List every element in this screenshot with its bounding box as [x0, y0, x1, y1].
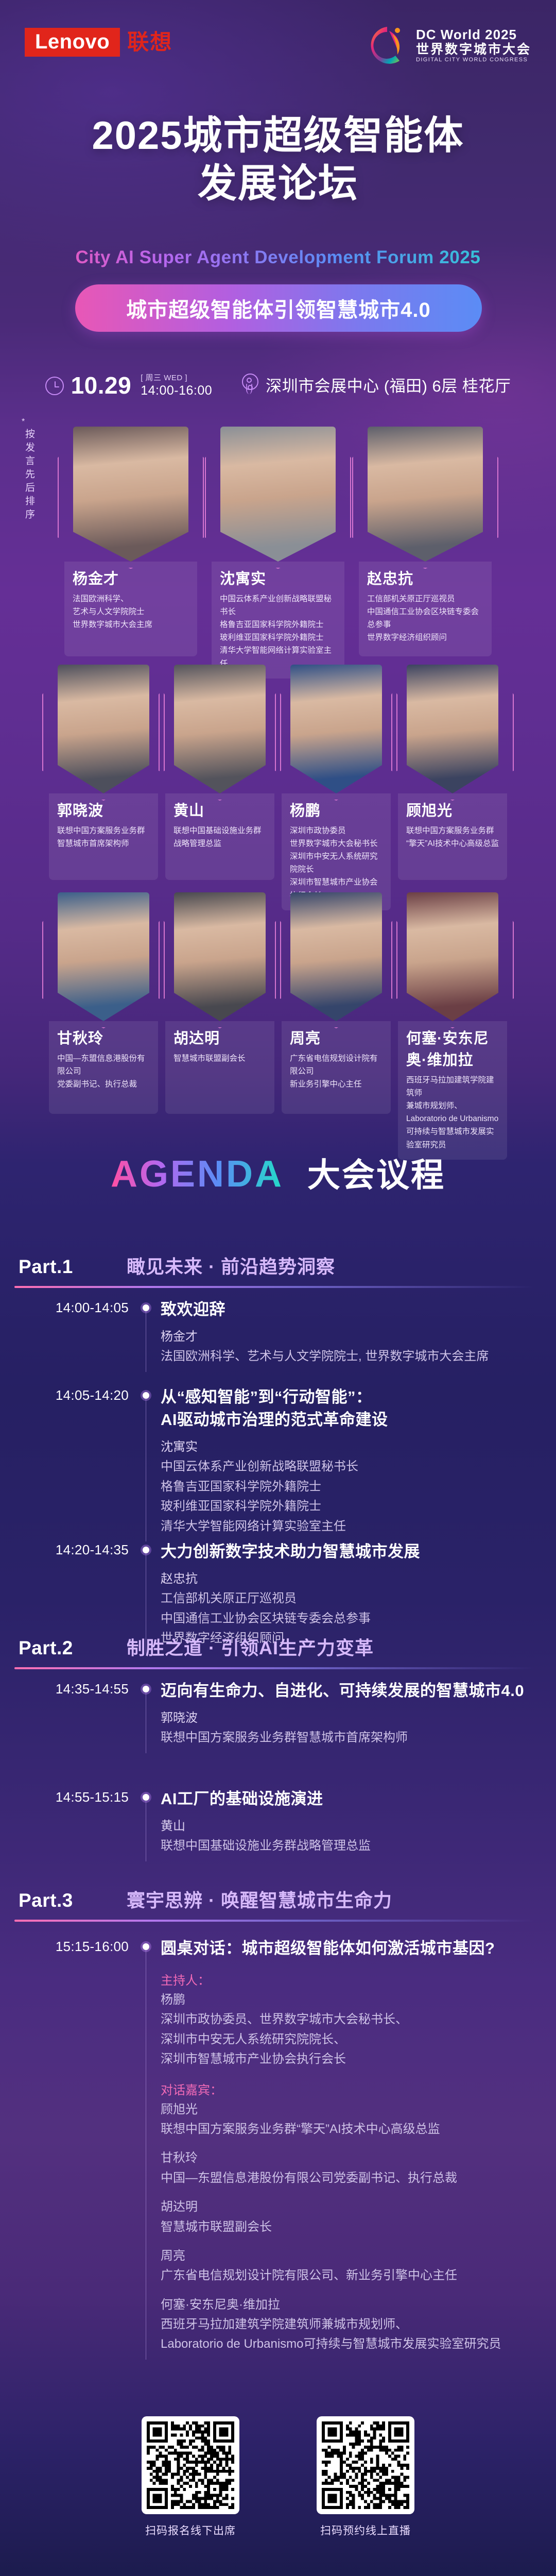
speaker-name: 何塞·安东尼奥·维加拉 [406, 1026, 499, 1070]
speaker-row: 甘秋玲中国—东盟信息港股份有限公司党委副书记、执行总裁胡达明智慧城市联盟副会长周… [0, 892, 556, 1160]
speaker-card: 胡达明智慧城市联盟副会长 [165, 892, 274, 1160]
agenda-slot-title: 从“感知智能”到“行动智能”： [161, 1386, 535, 1409]
agenda-slot-body: 从“感知智能”到“行动智能”：AI驱动城市治理的范式革命建设沈寓实中国云体系产业… [161, 1386, 556, 1536]
agenda-panelist-title: 联想中国方案服务业务群“擎天”AI技术中心高级总监 [161, 2120, 535, 2139]
qr-register-box[interactable] [142, 2416, 239, 2514]
clock-icon [45, 377, 64, 395]
order-note-star: * [22, 417, 25, 427]
speaker-title-line: 玻利维亚国家科学院外籍院士 [220, 631, 336, 644]
event-datetime: 10.29 [ 周三 WED ] 14:00-16:00 [45, 372, 213, 397]
dc-world-subtitle: DIGITAL CITY WORLD CONGRESS [416, 57, 531, 63]
speaker-photo-wrap [165, 892, 274, 1021]
agenda-panelist: 何塞·安东尼奥·维加拉西班牙马拉加建筑学院建筑师兼城市规划师、Laborator… [161, 2295, 535, 2354]
speaker-title-line: 工信部机关原正厅巡视员 [367, 592, 483, 605]
agenda-slot-speaker-title: 工信部机关原正厅巡视员 [161, 1589, 535, 1608]
header-bar: Lenovo 联想 [0, 21, 556, 88]
agenda-slot-speaker-name: 黄山 [161, 1817, 535, 1836]
speaker-card: 顾旭光联想中国方案服务业务群“擎天”AI技术中心高级总监 [398, 665, 507, 910]
qr-livestream[interactable]: 扫码预约线上直播 [317, 2416, 414, 2538]
agenda-slot-speaker-name: 赵忠抗 [161, 1569, 535, 1589]
speaker-title-line: 中国通信工业协会区块链专委会总参事 [367, 605, 483, 631]
speaker-title-line: 法国欧洲科学、 [73, 592, 189, 605]
event-weekday: [ 周三 WED ] [141, 372, 212, 383]
agenda-panelist-title: Laboratorio de Urbanismo可持续与智慧城市发展实验室研究员 [161, 2334, 535, 2354]
speaker-name: 周亮 [290, 1026, 383, 1048]
agenda-panelist-name: 顾旭光 [161, 2100, 535, 2120]
agenda-slot-speaker-block: 杨金才法国欧洲科学、艺术与人文学院院士, 世界数字城市大会主席 [161, 1327, 535, 1367]
event-time: 14:00-16:00 [141, 384, 212, 397]
agenda-slot-title: 圆桌对话：城市超级智能体如何激活城市基因? [161, 1937, 535, 1960]
page-title-line1: 2025城市超级智能体 [0, 112, 556, 160]
dc-world-title-cn: 世界数字城市大会 [416, 42, 531, 57]
speaker-title-line: 兼城市规划师、 [406, 1099, 499, 1112]
agenda-slot-body: AI工厂的基础设施演进黄山联想中国基础设施业务群战略管理总监 [161, 1788, 556, 1856]
agenda-panelist-name: 甘秋玲 [161, 2148, 535, 2168]
speaker-card: 杨金才法国欧洲科学、艺术与人文学院院士世界数字城市大会主席 [64, 427, 197, 679]
agenda-slot-speaker-title: 法国欧洲科学、艺术与人文学院院士, 世界数字城市大会主席 [161, 1347, 535, 1366]
agenda-part-name: 寰宇思辨 · 唤醒智慧城市生命力 [127, 1886, 392, 1912]
poster-root: Lenovo 联想 [0, 0, 556, 2576]
agenda-slot-speaker-title: 中国云体系产业创新战略联盟秘书长 [161, 1457, 535, 1477]
qr-section: 扫码报名线下出席 扫码预约线上直播 [0, 2416, 556, 2538]
agenda-slot-speaker-block: 黄山联想中国基础设施业务群战略管理总监 [161, 1817, 535, 1856]
speaker-info: 杨金才法国欧洲科学、艺术与人文学院院士世界数字城市大会主席 [64, 562, 197, 656]
page-subtitle-en: City AI Super Agent Development Forum 20… [0, 247, 556, 268]
speaker-name: 郭晓波 [57, 799, 150, 820]
event-meta: 10.29 [ 周三 WED ] 14:00-16:00 深圳市会展中心 (福田… [0, 372, 556, 397]
speaker-title-line: 格鲁吉亚国家科学院外籍院士 [220, 618, 336, 631]
speaker-title-line: 智慧城市首席架构师 [57, 837, 150, 850]
speaker-photo-wrap [359, 427, 492, 562]
agenda-panelist: 甘秋玲中国—东盟信息港股份有限公司党委副书记、执行总裁 [161, 2148, 535, 2188]
agenda-slot-body: 圆桌对话：城市超级智能体如何激活城市基因?主持人：杨鹏深圳市政协委员、世界数字城… [161, 1937, 556, 2354]
agenda-slot-speaker-title: 格鲁吉亚国家科学院外籍院士 [161, 1477, 535, 1497]
agenda-part-divider [14, 1667, 534, 1669]
agenda-slot-title: AI驱动城市治理的范式革命建设 [161, 1409, 535, 1431]
speaker-title-line: 世界数字经济组织顾问 [367, 631, 483, 644]
agenda-title-cn: 大会议程 [307, 1149, 445, 1196]
speaker-card: 甘秋玲中国—东盟信息港股份有限公司党委副书记、执行总裁 [49, 892, 158, 1160]
speaker-name: 顾旭光 [406, 799, 499, 820]
agenda-slot-title: 致欢迎辞 [161, 1298, 535, 1321]
speaker-info: 沈寓实中国云体系产业创新战略联盟秘书长格鲁吉亚国家科学院外籍院士玻利维亚国家科学… [212, 562, 344, 679]
timeline-line [146, 1950, 146, 2360]
speaker-info: 黄山联想中国基础设施业务群战略管理总监 [165, 793, 274, 880]
agenda-slot-speaker-title: 联想中国方案服务业务群智慧城市首席架构师 [161, 1728, 535, 1748]
event-date: 10.29 [71, 374, 132, 397]
agenda-host-block: 杨鹏深圳市政协委员、世界数字城市大会秘书长、深圳市中安无人系统研究院院长、深圳市… [161, 1990, 535, 2070]
speaker-title-line: 世界数字城市大会秘书长 [290, 837, 383, 850]
agenda-slot-time: 14:35-14:55 [0, 1680, 129, 1748]
speaker-name: 杨金才 [73, 567, 189, 588]
speaker-photo-wrap [165, 665, 274, 793]
agenda-panelist-name: 胡达明 [161, 2197, 535, 2217]
agenda-part-name: 制胜之道 · 引领AI生产力变革 [127, 1633, 374, 1660]
agenda-part-divider [14, 1286, 534, 1288]
agenda-slot: 14:20-14:35大力创新数字技术助力智慧城市发展赵忠抗工信部机关原正厅巡视… [0, 1540, 556, 1649]
agenda-panelist-name: 周亮 [161, 2246, 535, 2266]
speaker-title-line: 战略管理总监 [173, 837, 266, 850]
agenda-slot-time: 14:20-14:35 [0, 1540, 129, 1649]
speaker-photo-wrap [398, 665, 507, 793]
qr-livestream-code-icon [322, 2421, 409, 2509]
agenda-slot-time: 14:00-14:05 [0, 1298, 129, 1367]
agenda-panelist: 顾旭光联想中国方案服务业务群“擎天”AI技术中心高级总监 [161, 2100, 535, 2140]
speaker-title-line: 西班牙马拉加建筑学院建筑师 [406, 1074, 499, 1099]
agenda-part: Part.3寰宇思辨 · 唤醒智慧城市生命力 [0, 1886, 556, 1922]
agenda-panelist-title: 广东省电信规划设计院有限公司、新业务引擎中心主任 [161, 2266, 535, 2285]
speaker-title-line: 深圳市政协委员 [290, 824, 383, 837]
agenda-host-title: 深圳市中安无人系统研究院院长、 [161, 2030, 535, 2049]
agenda-slot-title: 迈向有生命力、自进化、可持续发展的智慧城市4.0 [161, 1680, 535, 1702]
speaker-name: 杨鹏 [290, 799, 383, 820]
speaker-photo-wrap [282, 665, 391, 793]
speaker-info: 胡达明智慧城市联盟副会长 [165, 1021, 274, 1114]
speaker-card: 周亮广东省电信规划设计院有限公司新业务引擎中心主任 [282, 892, 391, 1160]
agenda-slot-title: AI工厂的基础设施演进 [161, 1788, 535, 1810]
agenda-timeline-marker [129, 1298, 161, 1367]
theme-pill: 城市超级智能体引领智慧城市4.0 [75, 284, 482, 332]
agenda-title-en: AGENDA [111, 1153, 284, 1195]
speaker-name: 沈寓实 [220, 567, 336, 588]
agenda-slot-body: 大力创新数字技术助力智慧城市发展赵忠抗工信部机关原正厅巡视员中国通信工业协会区块… [161, 1540, 556, 1649]
speaker-name: 甘秋玲 [57, 1026, 150, 1048]
speaker-title-line: 智慧城市联盟副会长 [173, 1052, 266, 1065]
agenda-host-label: 主持人： [161, 1970, 535, 1988]
agenda-slot-speaker-name: 郭晓波 [161, 1708, 535, 1728]
speaker-title-line: 深圳市中安无人系统研究院院长 [290, 850, 383, 876]
agenda-panel-label: 对话嘉宾： [161, 2080, 535, 2098]
speaker-name: 黄山 [173, 799, 266, 820]
agenda-slot-speaker-block: 沈寓实中国云体系产业创新战略联盟秘书长格鲁吉亚国家科学院外籍院士玻利维亚国家科学… [161, 1437, 535, 1536]
agenda-slot: 14:05-14:20从“感知智能”到“行动智能”：AI驱动城市治理的范式革命建… [0, 1386, 556, 1536]
agenda-heading: AGENDA 大会议程 [0, 1149, 556, 1196]
speaker-name: 赵忠抗 [367, 567, 483, 588]
speaker-title-line: 联想中国方案服务业务群 [57, 824, 150, 837]
agenda-slot-speaker-name: 沈寓实 [161, 1437, 535, 1457]
agenda-slot: 14:55-15:15AI工厂的基础设施演进黄山联想中国基础设施业务群战略管理总… [0, 1788, 556, 1856]
agenda-timeline-marker [129, 1386, 161, 1536]
location-pin-icon [241, 374, 258, 396]
timeline-line [146, 1800, 146, 1861]
agenda-timeline-marker [129, 1540, 161, 1649]
agenda-part: Part.1瞰见未来 · 前沿趋势洞察 [0, 1252, 556, 1288]
agenda-slot-speaker-title: 联想中国基础设施业务群战略管理总监 [161, 1836, 535, 1856]
agenda-slot-body: 致欢迎辞杨金才法国欧洲科学、艺术与人文学院院士, 世界数字城市大会主席 [161, 1298, 556, 1367]
agenda-panelist-title: 西班牙马拉加建筑学院建筑师兼城市规划师、 [161, 2315, 535, 2334]
agenda-slot-speaker-block: 郭晓波联想中国方案服务业务群智慧城市首席架构师 [161, 1708, 535, 1748]
agenda-panelist-title: 智慧城市联盟副会长 [161, 2217, 535, 2237]
speaker-title-line: Laboratorio de Urbanismo [406, 1112, 499, 1125]
agenda-panelist: 胡达明智慧城市联盟副会长 [161, 2197, 535, 2237]
speaker-title-line: 联想中国基础设施业务群 [173, 824, 266, 837]
agenda-panelist-title: 中国—东盟信息港股份有限公司党委副书记、执行总裁 [161, 2168, 535, 2188]
speaker-card: 郭晓波联想中国方案服务业务群智慧城市首席架构师 [49, 665, 158, 910]
speaker-title-line: 世界数字城市大会主席 [73, 618, 189, 631]
lenovo-wordmark: Lenovo [25, 28, 120, 57]
agenda-slot: 14:35-14:55迈向有生命力、自进化、可持续发展的智慧城市4.0郭晓波联想… [0, 1680, 556, 1748]
agenda-slot-time: 15:15-16:00 [0, 1937, 129, 2354]
speaker-photo-wrap [49, 665, 158, 793]
dc-world-text: DC World 2025 世界数字城市大会 DIGITAL CITY WORL… [416, 27, 531, 63]
speaker-info: 郭晓波联想中国方案服务业务群智慧城市首席架构师 [49, 793, 158, 880]
page-title-line2: 发展论坛 [0, 160, 556, 208]
speaker-photo-wrap [64, 427, 197, 562]
agenda-slot-speaker-title: 玻利维亚国家科学院外籍院士 [161, 1497, 535, 1516]
speaker-photo-wrap [212, 427, 344, 562]
qr-register-code-icon [147, 2421, 234, 2509]
speaker-card: 黄山联想中国基础设施业务群战略管理总监 [165, 665, 274, 910]
agenda-host-title: 深圳市政协委员、世界数字城市大会秘书长、 [161, 2010, 535, 2029]
agenda-part-number: Part.3 [19, 1890, 127, 1911]
lenovo-logo: Lenovo 联想 [25, 28, 172, 57]
qr-livestream-caption: 扫码预约线上直播 [317, 2522, 414, 2538]
qr-register-caption: 扫码报名线下出席 [142, 2522, 239, 2538]
speaker-title-line: 党委副书记、执行总裁 [57, 1078, 150, 1091]
speaker-photo-wrap [282, 892, 391, 1021]
agenda-part-number: Part.2 [19, 1637, 127, 1659]
speaker-photo-wrap [49, 892, 158, 1021]
speaker-title-line: 中国云体系产业创新战略联盟秘书长 [220, 592, 336, 618]
agenda-slot-time: 14:05-14:20 [0, 1386, 129, 1536]
speaker-title-line: 艺术与人文学院院士 [73, 605, 189, 618]
agenda-slot: 15:15-16:00圆桌对话：城市超级智能体如何激活城市基因?主持人：杨鹏深圳… [0, 1937, 556, 2354]
agenda-part-divider [14, 1920, 534, 1922]
speaker-card: 沈寓实中国云体系产业创新战略联盟秘书长格鲁吉亚国家科学院外籍院士玻利维亚国家科学… [212, 427, 344, 679]
agenda-host-title: 深圳市智慧城市产业协会执行会长 [161, 2049, 535, 2069]
timeline-line [146, 1692, 146, 1753]
speaker-card: 赵忠抗工信部机关原正厅巡视员中国通信工业协会区块链专委会总参事世界数字经济组织顾… [359, 427, 492, 679]
speaker-card: 杨鹏深圳市政协委员世界数字城市大会秘书长深圳市中安无人系统研究院院长深圳市智慧城… [282, 665, 391, 910]
city-skyline-graphic [0, 2550, 556, 2576]
event-location: 深圳市会展中心 (福田) 6层 桂花厅 [241, 373, 511, 396]
speaker-row: 杨金才法国欧洲科学、艺术与人文学院院士世界数字城市大会主席沈寓实中国云体系产业创… [0, 427, 556, 679]
agenda-slot-speaker-title: 中国通信工业协会区块链专委会总参事 [161, 1609, 535, 1629]
event-venue: 深圳市会展中心 (福田) 6层 桂花厅 [266, 373, 511, 396]
dc-world-swirl-icon [366, 24, 409, 67]
agenda-part-number: Part.1 [19, 1256, 127, 1278]
agenda-slot-speaker-name: 杨金才 [161, 1327, 535, 1347]
speaker-title-line: 可持续与智慧城市发展实验室研究员 [406, 1125, 499, 1151]
agenda-panelist: 周亮广东省电信规划设计院有限公司、新业务引擎中心主任 [161, 2246, 535, 2286]
speaker-title-line: 联想中国方案服务业务群 [406, 824, 499, 837]
page-title: 2025城市超级智能体 发展论坛 [0, 112, 556, 208]
qr-register[interactable]: 扫码报名线下出席 [142, 2416, 239, 2538]
speaker-title-line: 中国—东盟信息港股份有限公司 [57, 1052, 150, 1078]
agenda-part: Part.2制胜之道 · 引领AI生产力变革 [0, 1633, 556, 1669]
agenda-slot-speaker-title: 清华大学智能网络计算实验室主任 [161, 1517, 535, 1536]
agenda-slot-time: 14:55-15:15 [0, 1788, 129, 1856]
qr-livestream-box[interactable] [317, 2416, 414, 2514]
agenda-part-name: 瞰见未来 · 前沿趋势洞察 [127, 1252, 335, 1279]
speaker-info: 顾旭光联想中国方案服务业务群“擎天”AI技术中心高级总监 [398, 793, 507, 880]
agenda-timeline-marker [129, 1937, 161, 2354]
agenda-panelist-name: 何塞·安东尼奥·维加拉 [161, 2295, 535, 2315]
speaker-title-line: 新业务引擎中心主任 [290, 1078, 383, 1091]
timeline-line [146, 1311, 146, 1372]
dc-world-logo: DC World 2025 世界数字城市大会 DIGITAL CITY WORL… [366, 24, 531, 67]
lenovo-chinese-name: 联想 [127, 31, 172, 53]
speaker-card: 何塞·安东尼奥·维加拉西班牙马拉加建筑学院建筑师兼城市规划师、Laborator… [398, 892, 507, 1160]
speaker-row: 郭晓波联想中国方案服务业务群智慧城市首席架构师黄山联想中国基础设施业务群战略管理… [0, 665, 556, 910]
agenda-slot-title: 大力创新数字技术助力智慧城市发展 [161, 1540, 535, 1563]
speaker-name: 胡达明 [173, 1026, 266, 1048]
timeline-line [146, 1398, 146, 1541]
speaker-info: 赵忠抗工信部机关原正厅巡视员中国通信工业协会区块链专委会总参事世界数字经济组织顾… [359, 562, 492, 656]
agenda-timeline-marker [129, 1680, 161, 1748]
speaker-title-line: “擎天”AI技术中心高级总监 [406, 837, 499, 850]
agenda-slot-body: 迈向有生命力、自进化、可持续发展的智慧城市4.0郭晓波联想中国方案服务业务群智慧… [161, 1680, 556, 1748]
speaker-info: 周亮广东省电信规划设计院有限公司新业务引擎中心主任 [282, 1021, 391, 1114]
agenda-host-name: 杨鹏 [161, 1990, 535, 2010]
speaker-info: 何塞·安东尼奥·维加拉西班牙马拉加建筑学院建筑师兼城市规划师、Laborator… [398, 1021, 507, 1160]
agenda-timeline-marker [129, 1788, 161, 1856]
speaker-info: 甘秋玲中国—东盟信息港股份有限公司党委副书记、执行总裁 [49, 1021, 158, 1114]
speaker-title-line: 广东省电信规划设计院有限公司 [290, 1052, 383, 1078]
speaker-photo-wrap [398, 892, 507, 1021]
agenda-slot: 14:00-14:05致欢迎辞杨金才法国欧洲科学、艺术与人文学院院士, 世界数字… [0, 1298, 556, 1367]
dc-world-title: DC World 2025 [416, 27, 531, 42]
